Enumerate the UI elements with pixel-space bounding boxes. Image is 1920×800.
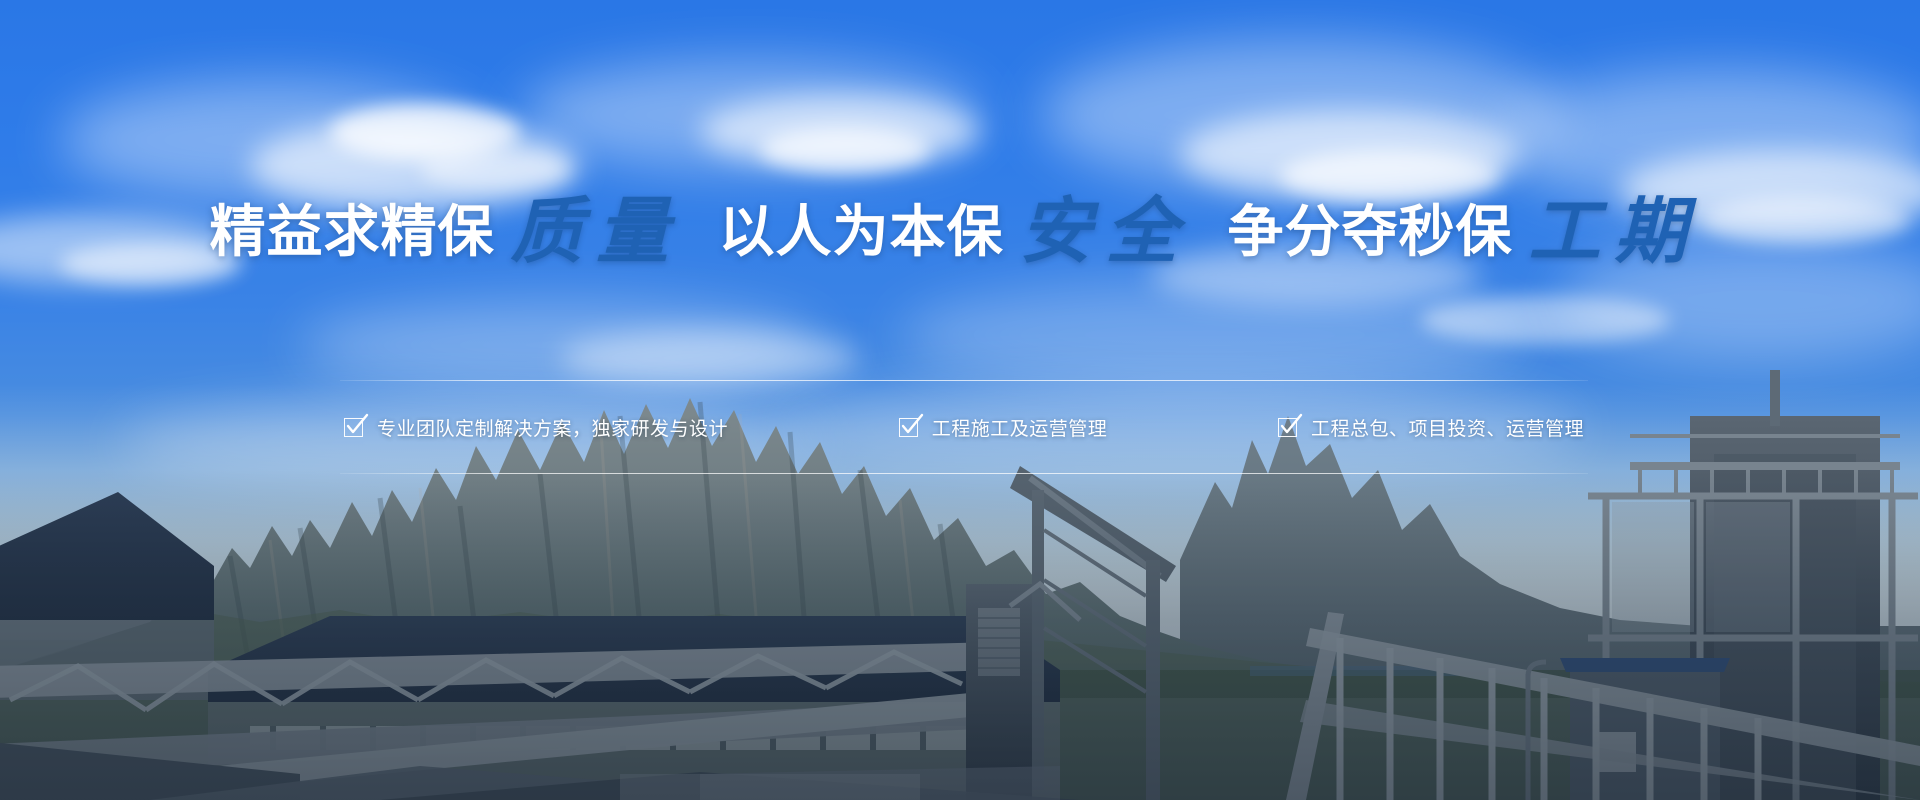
headline-plain-1: 精益求精保 bbox=[209, 200, 494, 263]
feature-item-1[interactable]: 专业团队定制解决方案，独家研发与设计 bbox=[344, 414, 728, 441]
checkbox-checked-icon bbox=[344, 418, 363, 437]
banner-content: 精益求精保质量以人为本保安全争分夺秒保工期 专业团队定制解决方案，独家研发与设计 bbox=[0, 0, 1920, 800]
checkbox-checked-icon bbox=[1278, 418, 1297, 437]
feature-item-2[interactable]: 工程施工及运营管理 bbox=[899, 414, 1108, 441]
headline-plain-2: 以人为本保 bbox=[718, 200, 1003, 263]
features-block: 专业团队定制解决方案，独家研发与设计 工程施工及运营管理 bbox=[340, 380, 1588, 474]
feature-list: 专业团队定制解决方案，独家研发与设计 工程施工及运营管理 bbox=[340, 381, 1588, 473]
headline-script-3: 工期 bbox=[1513, 192, 1711, 272]
feature-label-3: 工程总包、项目投资、运营管理 bbox=[1311, 414, 1584, 441]
headline-script-1: 质量 bbox=[494, 192, 692, 272]
feature-label-2: 工程施工及运营管理 bbox=[932, 414, 1108, 441]
feature-item-3[interactable]: 工程总包、项目投资、运营管理 bbox=[1278, 414, 1584, 441]
headline-script-2: 安全 bbox=[1003, 192, 1201, 272]
divider-bottom bbox=[340, 473, 1588, 474]
feature-label-1: 专业团队定制解决方案，独家研发与设计 bbox=[377, 414, 728, 441]
headline-plain-3: 争分夺秒保 bbox=[1228, 200, 1513, 263]
headline: 精益求精保质量以人为本保安全争分夺秒保工期 bbox=[0, 196, 1920, 268]
hero-banner: 精益求精保质量以人为本保安全争分夺秒保工期 专业团队定制解决方案，独家研发与设计 bbox=[0, 0, 1920, 800]
checkbox-checked-icon bbox=[899, 418, 918, 437]
